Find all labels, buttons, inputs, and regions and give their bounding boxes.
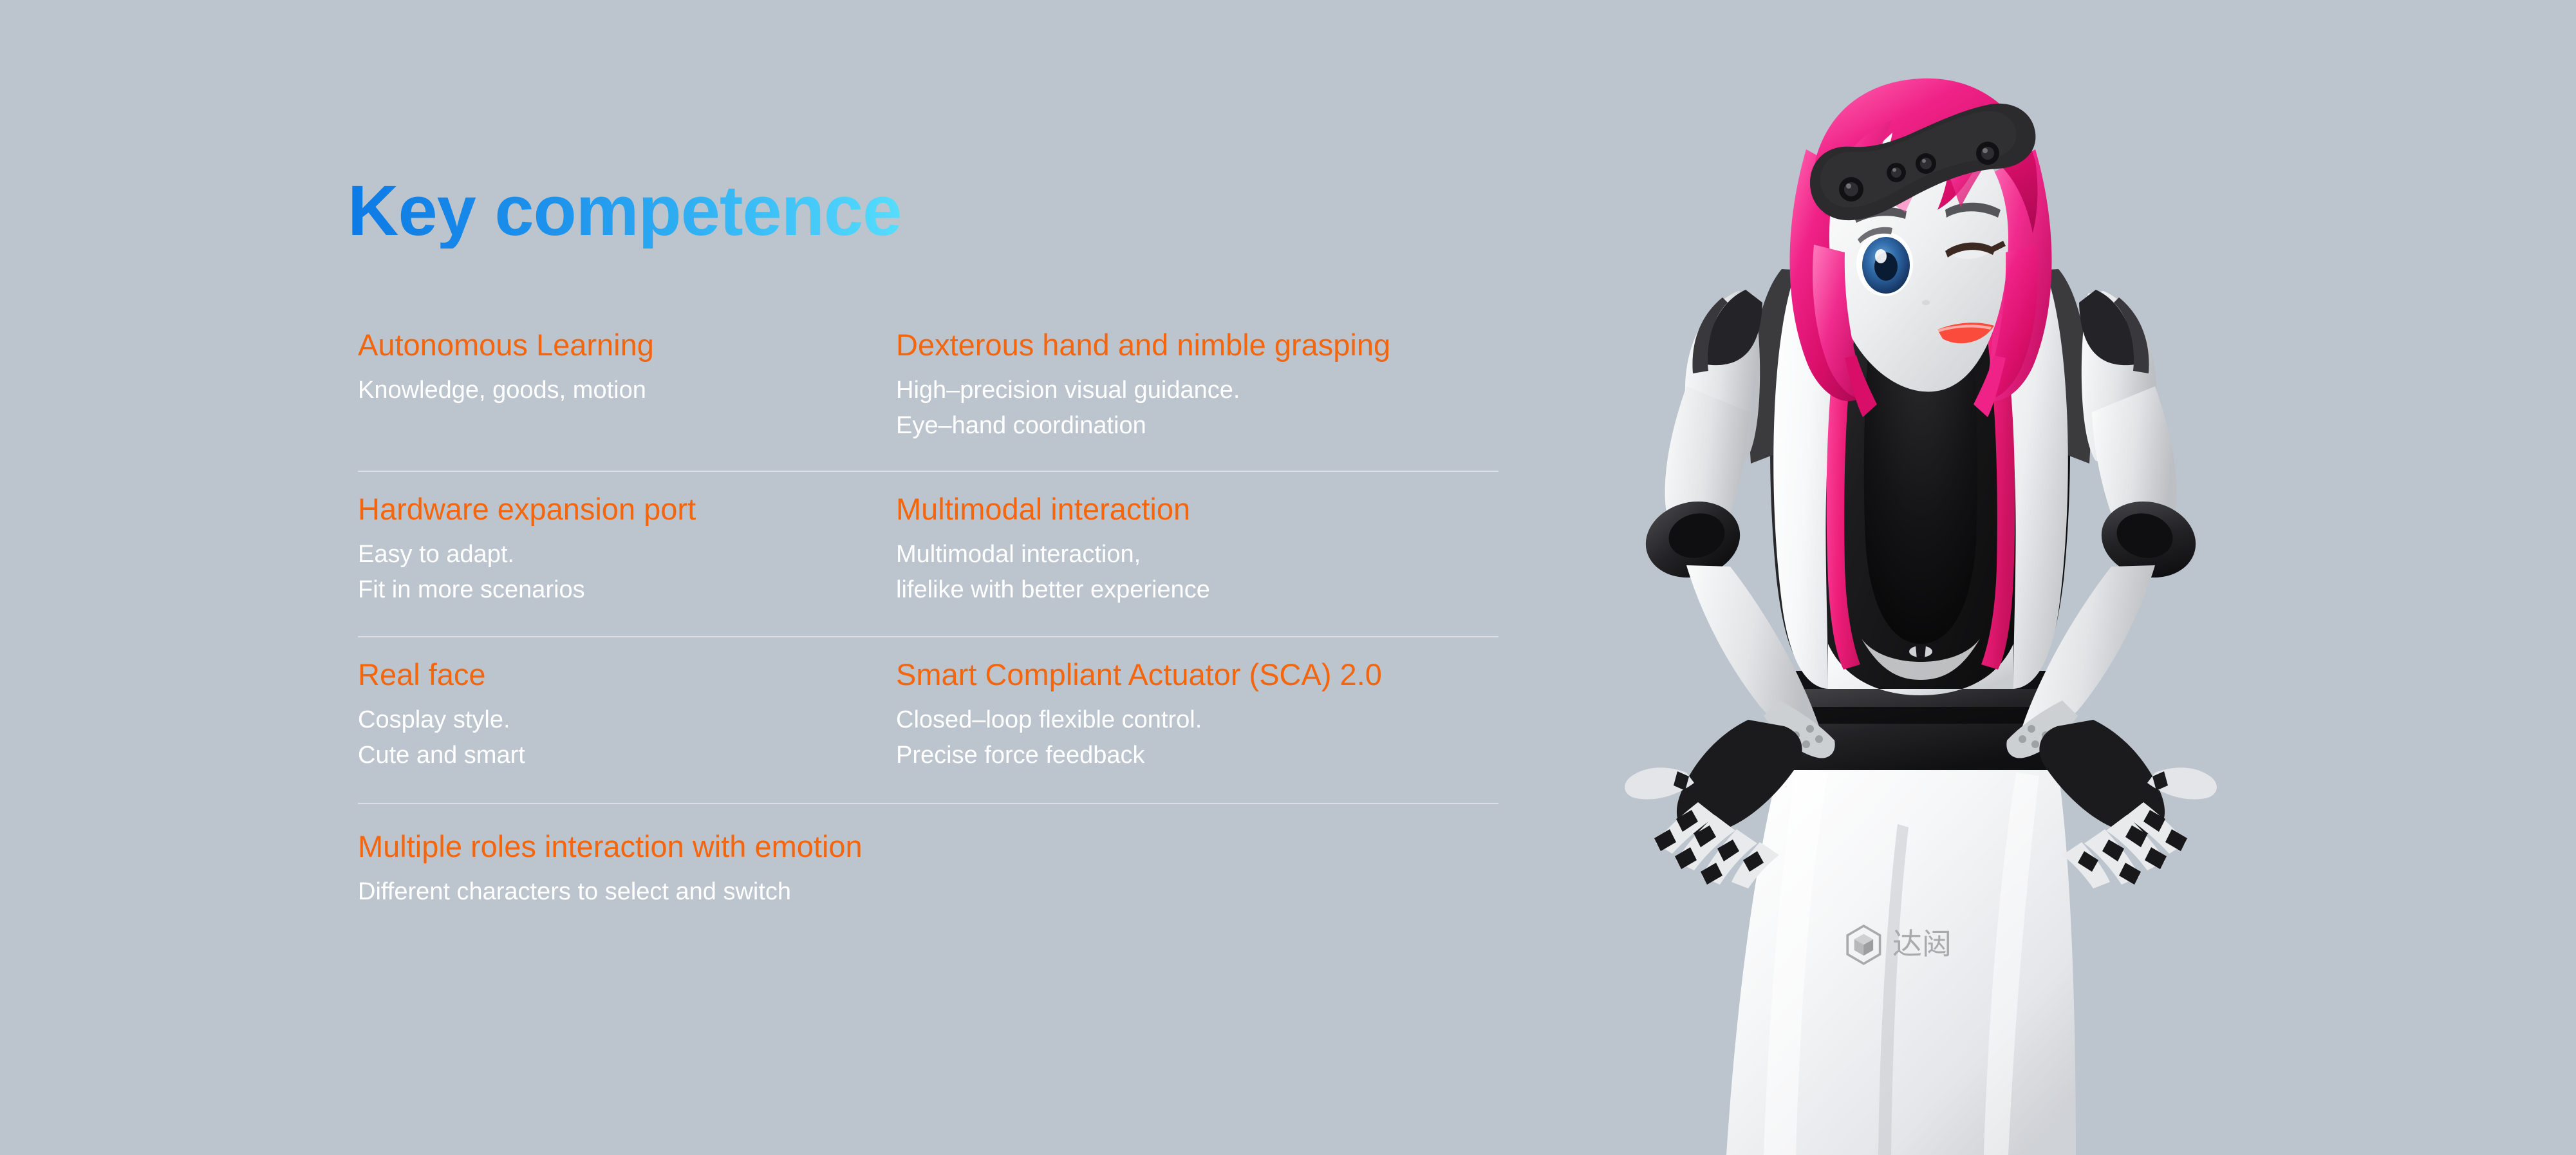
feature-item-real-face[interactable]: Real face Cosplay style. Cute and smart: [358, 657, 896, 773]
feature-item-smart-compliant-actuator[interactable]: Smart Compliant Actuator (SCA) 2.0 Close…: [896, 657, 1498, 773]
feature-body: Cosplay style. Cute and smart: [358, 702, 896, 773]
feature-row: Autonomous Learning Knowledge, goods, mo…: [358, 309, 1498, 471]
feature-title: Multiple roles interaction with emotion: [358, 829, 1498, 864]
feature-title: Multimodal interaction: [896, 491, 1498, 527]
feature-title: Dexterous hand and nimble grasping: [896, 327, 1498, 362]
feature-title: Smart Compliant Actuator (SCA) 2.0: [896, 657, 1498, 692]
feature-body: Closed–loop flexible control. Precise fo…: [896, 702, 1498, 773]
feature-body: Easy to adapt. Fit in more scenarios: [358, 537, 896, 607]
feature-body: Knowledge, goods, motion: [358, 373, 896, 408]
page-title: Key competence: [348, 174, 901, 249]
feature-title: Real face: [358, 657, 896, 692]
feature-body: Different characters to select and switc…: [358, 874, 1498, 910]
robot-illustration: 达闼: [1493, 0, 2576, 1155]
feature-item-dexterous-hand[interactable]: Dexterous hand and nimble grasping High–…: [896, 327, 1498, 444]
feature-title: Autonomous Learning: [358, 327, 896, 362]
robot-head: [1790, 79, 2052, 417]
feature-title: Hardware expansion port: [358, 491, 896, 527]
feature-item-hardware-expansion-port[interactable]: Hardware expansion port Easy to adapt. F…: [358, 491, 896, 608]
robot-svg: 达闼: [1493, 0, 2576, 1155]
feature-row: Hardware expansion port Easy to adapt. F…: [358, 471, 1498, 636]
feature-row: Real face Cosplay style. Cute and smart …: [358, 636, 1498, 803]
feature-item-autonomous-learning[interactable]: Autonomous Learning Knowledge, goods, mo…: [358, 327, 896, 444]
feature-row: Multiple roles interaction with emotion …: [358, 803, 1498, 929]
feature-item-multiple-roles-interaction[interactable]: Multiple roles interaction with emotion …: [358, 829, 1498, 910]
robot-brand-text: 达闼: [1892, 926, 1952, 961]
feature-item-multimodal-interaction[interactable]: Multimodal interaction Multimodal intera…: [896, 491, 1498, 608]
feature-grid: Autonomous Learning Knowledge, goods, mo…: [358, 309, 1498, 929]
feature-body: Multimodal interaction, lifelike with be…: [896, 537, 1498, 607]
feature-body: High–precision visual guidance. Eye–hand…: [896, 373, 1498, 443]
slide-canvas: Key competence Autonomous Learning Knowl…: [0, 0, 2576, 1155]
